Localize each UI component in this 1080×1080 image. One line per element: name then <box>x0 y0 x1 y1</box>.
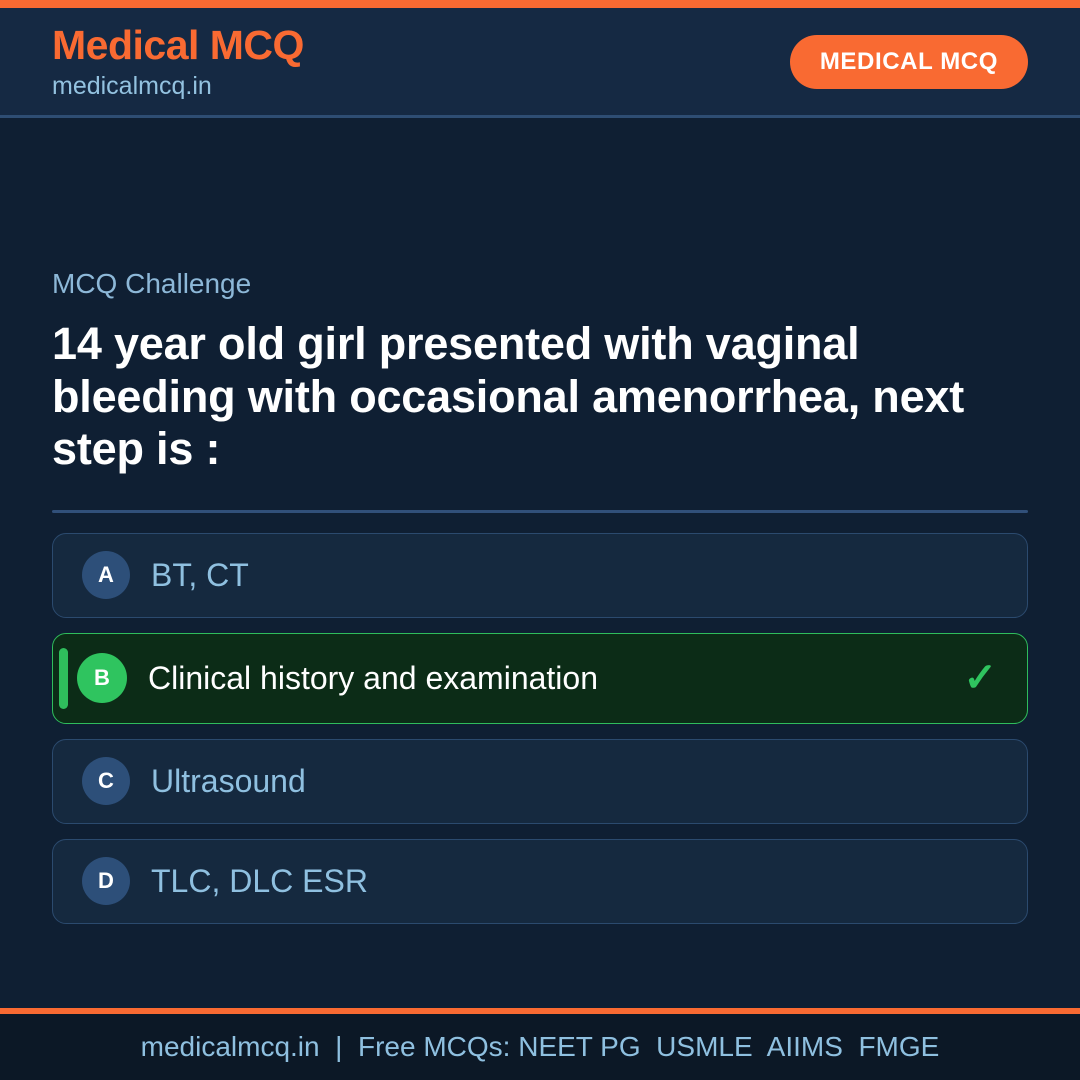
brand-badge: MEDICAL MCQ <box>790 35 1028 89</box>
option-letter-badge: D <box>82 857 130 905</box>
kicker-label: MCQ Challenge <box>52 270 1028 298</box>
option-label: Clinical history and examination <box>148 662 598 694</box>
options-list: A BT, CT B Clinical history and examinat… <box>52 533 1028 939</box>
option-c[interactable]: C Ultrasound <box>52 739 1028 824</box>
brand-title: Medical MCQ <box>52 24 304 67</box>
question-divider <box>52 510 1028 513</box>
option-label: Ultrasound <box>151 765 306 797</box>
brand: Medical MCQ medicalmcq.in <box>52 24 304 99</box>
option-b[interactable]: B Clinical history and examination ✓ <box>52 633 1028 724</box>
option-letter-badge: B <box>77 653 127 703</box>
option-d[interactable]: D TLC, DLC ESR <box>52 839 1028 924</box>
check-icon: ✓ <box>963 658 997 698</box>
brand-subtitle: medicalmcq.in <box>52 74 304 99</box>
option-letter-badge: C <box>82 757 130 805</box>
correct-accent-bar <box>59 648 68 709</box>
top-accent-rule <box>0 0 1080 8</box>
option-label: BT, CT <box>151 559 249 591</box>
option-label: TLC, DLC ESR <box>151 865 368 897</box>
question-text: 14 year old girl presented with vaginal … <box>52 318 1012 476</box>
footer-text: medicalmcq.in | Free MCQs: NEET PG USMLE… <box>141 1031 940 1063</box>
header: Medical MCQ medicalmcq.in MEDICAL MCQ <box>0 8 1080 118</box>
option-letter-badge: A <box>82 551 130 599</box>
footer: medicalmcq.in | Free MCQs: NEET PG USMLE… <box>0 1014 1080 1080</box>
option-a[interactable]: A BT, CT <box>52 533 1028 618</box>
mcq-card: Medical MCQ medicalmcq.in MEDICAL MCQ MC… <box>0 0 1080 1080</box>
main-content: MCQ Challenge 14 year old girl presented… <box>0 118 1080 1008</box>
